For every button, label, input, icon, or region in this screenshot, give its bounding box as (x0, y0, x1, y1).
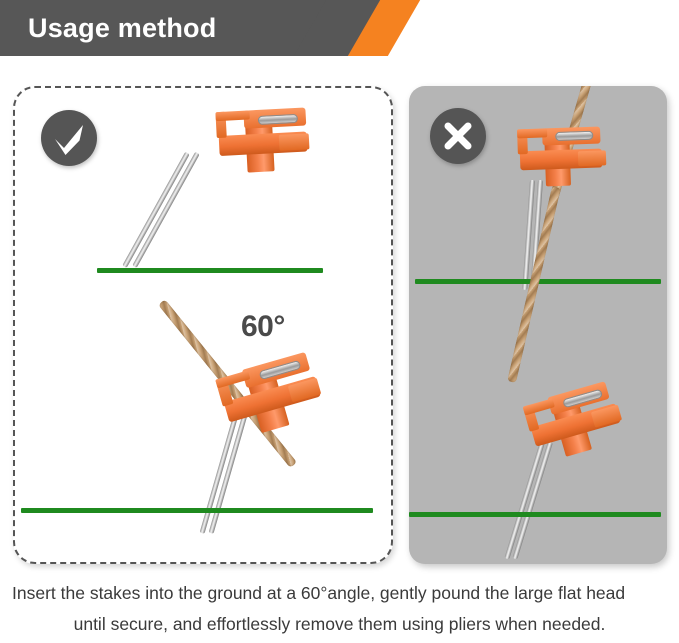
page-title: Usage method (28, 8, 216, 48)
stake-head-hook-arm (215, 110, 249, 121)
stake-metal-clip (555, 131, 593, 141)
header-banner: Usage method (0, 0, 679, 56)
ground-line-scene-2 (21, 508, 373, 513)
stake-head (507, 126, 609, 187)
caption: Insert the stakes into the ground at a 6… (0, 578, 679, 640)
panel-correct-usage: 60° (13, 86, 393, 564)
stake-shaft (122, 152, 189, 268)
caption-line-1: Insert the stakes into the ground at a 6… (0, 578, 679, 609)
stake-head-hook-arm (517, 128, 547, 138)
panel-incorrect-usage (409, 86, 667, 564)
stake-head-right-wing (279, 133, 310, 151)
stake-shaft-secondary (132, 152, 199, 268)
stake-head (203, 349, 332, 444)
scene-stake-leaning-wrong (409, 296, 667, 526)
stake-head-right-wing (578, 150, 607, 166)
stake-head (201, 107, 314, 175)
ground-line-scene-1 (97, 268, 323, 273)
scene-stake-60-degrees: 60° (15, 88, 395, 288)
ground-line-scene-2 (409, 512, 661, 517)
scene-stake-with-rope (15, 288, 395, 518)
stake-head (512, 379, 630, 468)
caption-line-2: until secure, and effortlessly remove th… (0, 609, 679, 640)
stake-head-hook-arm (523, 398, 555, 415)
